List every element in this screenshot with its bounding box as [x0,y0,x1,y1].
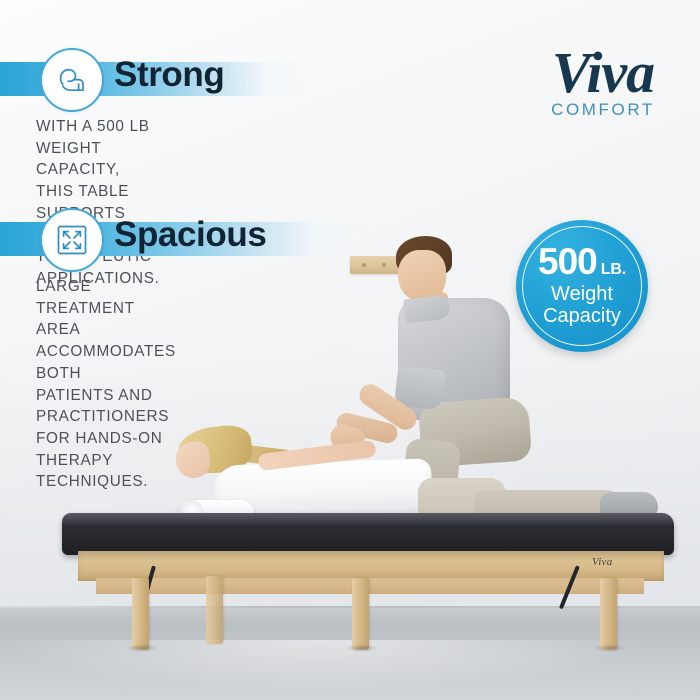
plaque-screw-left [362,263,366,267]
feature-body-text: LARGE TREATMENT AREA ACCOMMODATES BOTH P… [36,276,176,493]
table-leg-front-right [600,578,617,650]
expand-arrows-icon [40,208,104,272]
table-cushion [62,513,674,555]
weight-capacity-badge: 500 LB. Weight Capacity [516,220,648,352]
brand-logo: Viva COMFORT [528,46,678,142]
table-leg-middle [352,578,369,650]
table-brand-mark: Viva [592,556,613,568]
feature-heading: Strong [114,57,224,92]
table-leg-front-left [132,578,149,650]
brand-name: Viva [528,46,678,99]
leg-shadow-right [594,644,626,652]
plaque-screw-right [382,263,386,267]
feature-heading: Spacious [114,217,266,252]
table-leg-back-left [206,576,223,644]
table-apron-shadow [78,551,664,561]
cushion-highlight [62,513,674,527]
flexed-bicep-icon [40,48,104,112]
badge-inner-ring [522,226,642,346]
product-feature-graphic: Viva Strong WITH A 500 LB WEIGHT CAPACIT… [0,0,700,700]
wall-plaque [350,256,402,274]
leg-shadow-middle [346,644,378,652]
brand-tagline: COMFORT [528,100,678,120]
leg-shadow-left [126,644,158,652]
table-stretcher-rail [96,578,644,594]
